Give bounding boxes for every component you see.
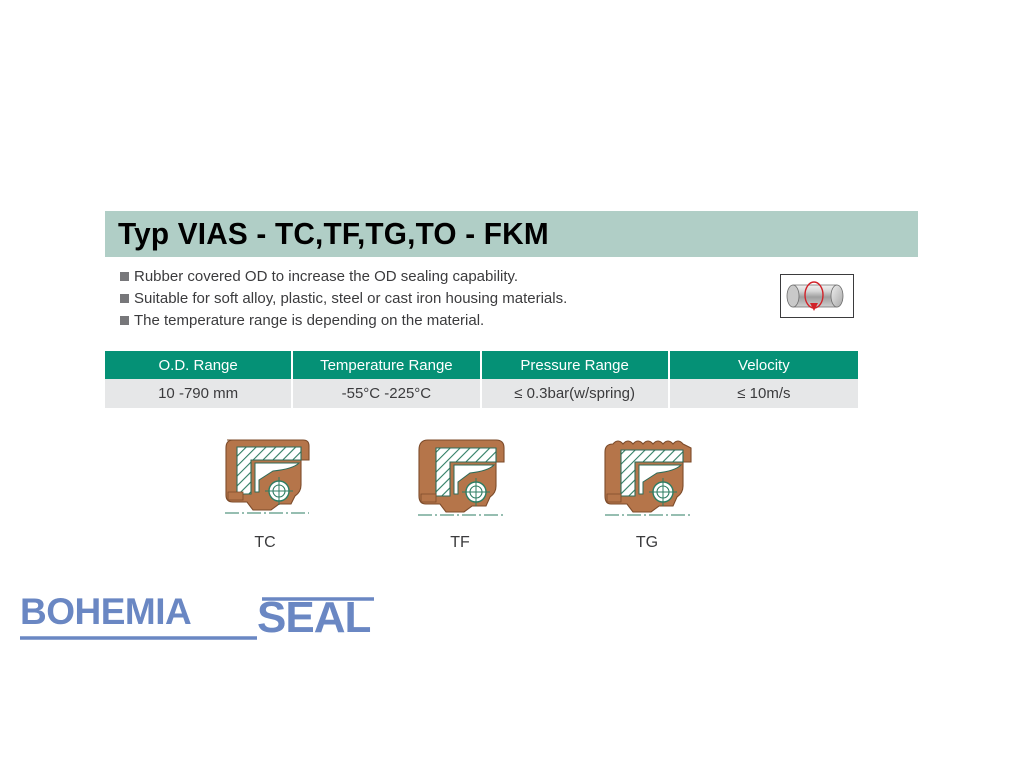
- square-bullet-icon: [120, 316, 129, 325]
- list-item: The temperature range is depending on th…: [120, 311, 760, 332]
- table-row: 10 -790 mm -55°C -225°C ≤ 0.3bar(w/sprin…: [105, 379, 858, 408]
- column-header-temperature-range: Temperature Range: [293, 351, 481, 379]
- square-bullet-icon: [120, 294, 129, 303]
- table-header-row: O.D. Range Temperature Range Pressure Ra…: [105, 351, 858, 379]
- cell-pressure-range: ≤ 0.3bar(w/spring): [482, 379, 670, 408]
- seal-label-tc: TC: [200, 534, 330, 552]
- seal-cross-section-tc-icon: [213, 430, 317, 530]
- feature-text: Rubber covered OD to increase the OD sea…: [134, 267, 518, 286]
- seal-diagram-tc: TC: [200, 430, 330, 552]
- bohemia-seal-logo: BOHEMIA SEAL: [14, 588, 394, 644]
- seal-diagram-tg: TG: [582, 430, 712, 552]
- logo-text-bohemia: BOHEMIA: [20, 591, 191, 632]
- seal-diagram-tf: TF: [395, 430, 525, 552]
- feature-text: The temperature range is depending on th…: [134, 311, 484, 330]
- seal-cross-section-tf-icon: [408, 430, 512, 530]
- square-bullet-icon: [120, 272, 129, 281]
- seal-label-tg: TG: [582, 534, 712, 552]
- rotating-shaft-icon: [780, 274, 854, 318]
- seal-cross-section-tg-icon: [595, 430, 699, 530]
- list-item: Suitable for soft alloy, plastic, steel …: [120, 289, 760, 310]
- cell-temperature-range: -55°C -225°C: [293, 379, 481, 408]
- feature-list: Rubber covered OD to increase the OD sea…: [120, 267, 760, 333]
- title-banner: Typ VIAS - TC,TF,TG,TO - FKM: [105, 211, 918, 257]
- column-header-pressure-range: Pressure Range: [482, 351, 670, 379]
- seal-diagram-gallery: TC TF: [105, 430, 858, 565]
- list-item: Rubber covered OD to increase the OD sea…: [120, 267, 760, 288]
- cell-od-range: 10 -790 mm: [105, 379, 293, 408]
- column-header-velocity: Velocity: [670, 351, 858, 379]
- cell-velocity: ≤ 10m/s: [670, 379, 858, 408]
- seal-label-tf: TF: [395, 534, 525, 552]
- spec-table: O.D. Range Temperature Range Pressure Ra…: [105, 351, 858, 408]
- page-title: Typ VIAS - TC,TF,TG,TO - FKM: [118, 216, 549, 252]
- column-header-od-range: O.D. Range: [105, 351, 293, 379]
- feature-text: Suitable for soft alloy, plastic, steel …: [134, 289, 567, 308]
